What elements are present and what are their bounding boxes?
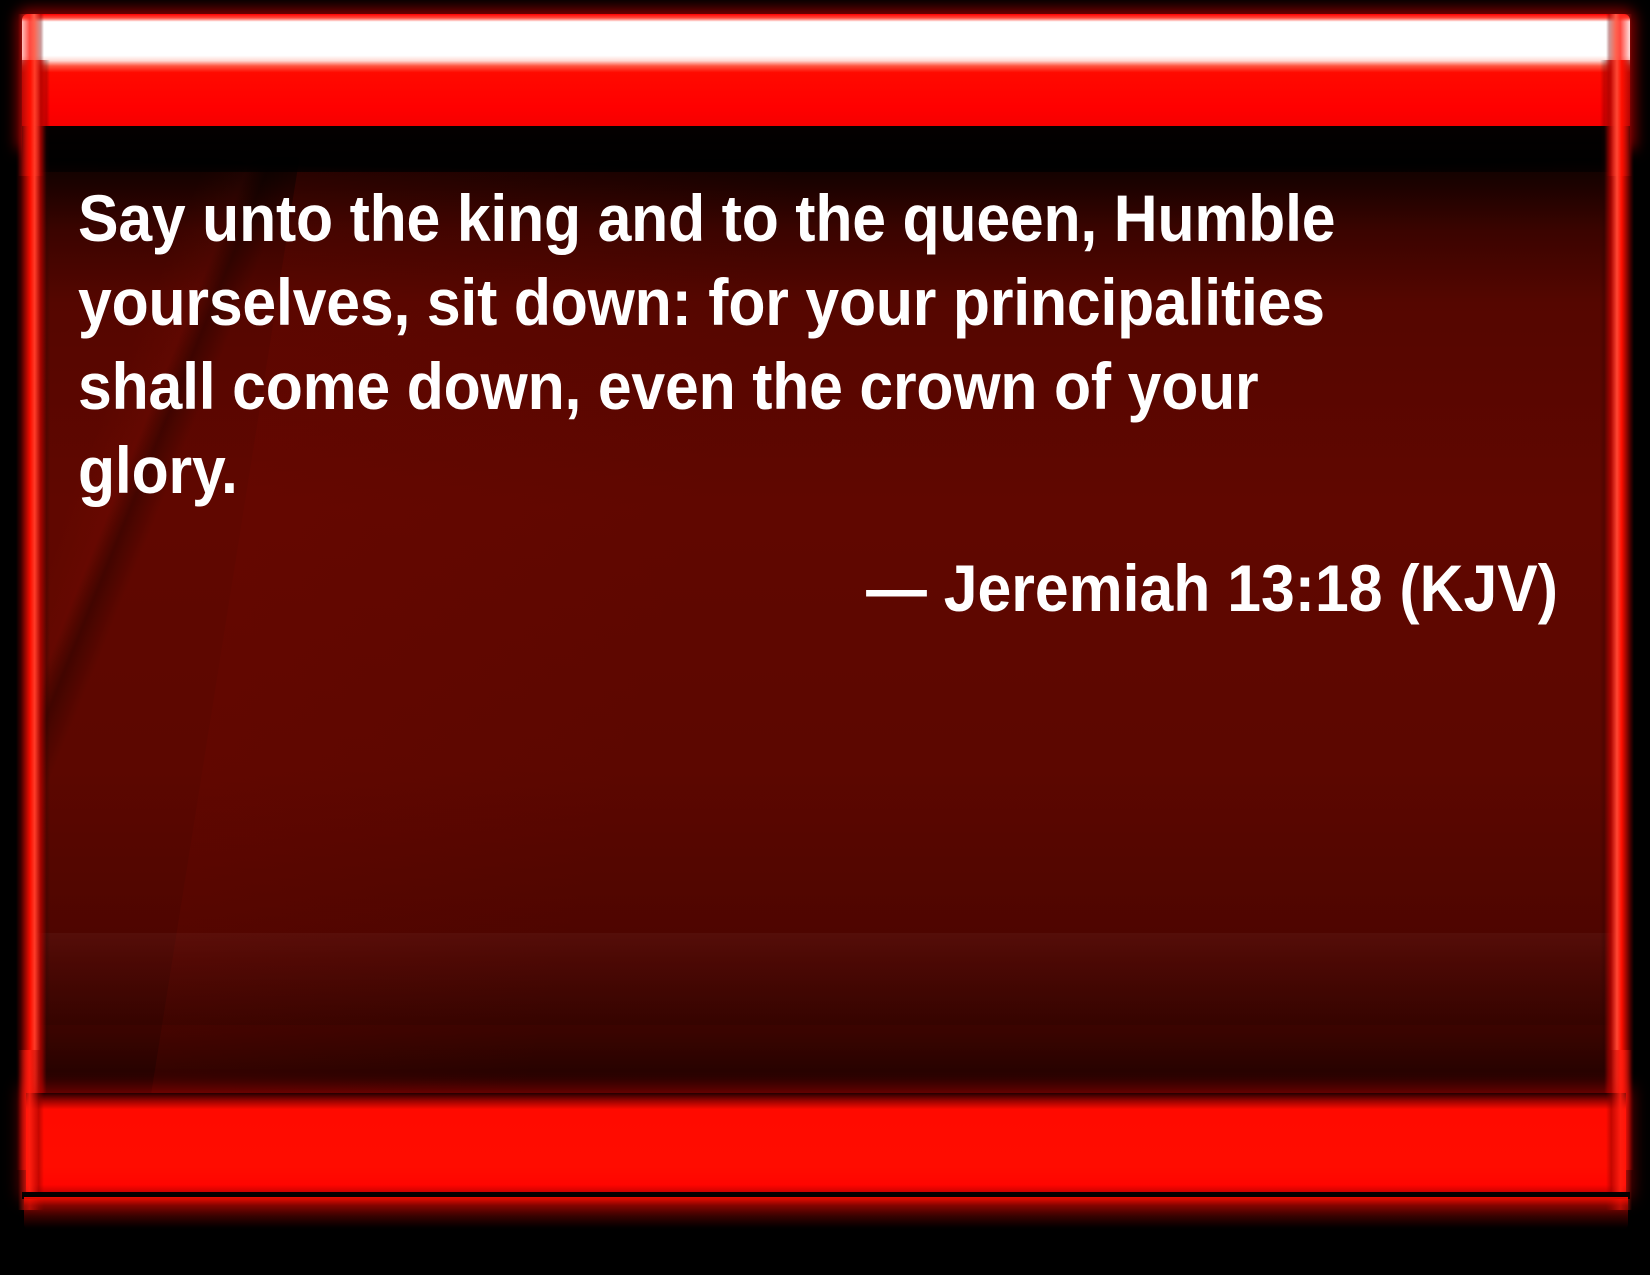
top-left-corner-glow [18, 14, 44, 176]
quote-slide: Say unto the king and to the queen, Humb… [0, 0, 1650, 1275]
bottom-red-reflection [24, 1197, 1628, 1230]
background-shelf-band [30, 933, 1622, 1025]
top-red-bar [22, 14, 1630, 144]
bottom-red-bar [26, 1093, 1626, 1195]
verse-citation: — Jeremiah 13:18 (KJV) [196, 512, 1558, 630]
verse-text: Say unto the king and to the queen, Humb… [78, 176, 1440, 512]
top-bar-shadow-base [22, 126, 1630, 172]
top-right-corner-glow [1606, 14, 1632, 176]
verse-block: Say unto the king and to the queen, Humb… [78, 176, 1558, 630]
